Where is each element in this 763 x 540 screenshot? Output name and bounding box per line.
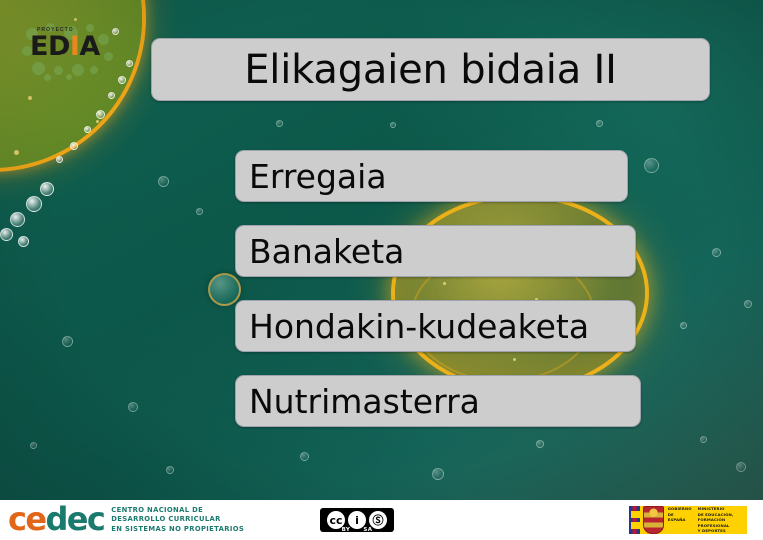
edia-logo-wordmark: EDIA — [30, 33, 100, 60]
government-name-line2: DE ESPAÑA — [668, 512, 692, 523]
ministry-name: MINISTERIO DE EDUCACIÓN, FORMACIÓN PROFE… — [698, 506, 747, 534]
cedec-tagline-line1: CENTRO NACIONAL DE — [111, 506, 244, 516]
list-item[interactable]: Nutrimasterra — [235, 375, 641, 427]
slide-title: Elikagaien bidaia II — [244, 50, 617, 90]
edia-logo-word-ed: ED — [30, 31, 70, 62]
ministry-name-line3: Y DEPORTES — [698, 528, 747, 534]
government-logo-text: GOBIERNO DE ESPAÑA MINISTERIO DE EDUCACI… — [668, 506, 747, 534]
edia-logo-word-a: A — [79, 31, 99, 62]
cedec-tagline: CENTRO NACIONAL DE DESARROLLO CURRICULAR… — [111, 506, 244, 535]
government-of-spain-logo: GOBIERNO DE ESPAÑA MINISTERIO DE EDUCACI… — [629, 506, 747, 534]
spain-flag-icon — [629, 506, 640, 534]
government-name-line1: GOBIERNO — [668, 506, 692, 512]
edia-logo-word-i-accent: I — [70, 31, 80, 62]
cedec-logo: cedec CENTRO NACIONAL DE DESARROLLO CURR… — [8, 503, 244, 535]
cc-badge-labels: BY SA — [320, 527, 394, 533]
list-item-label: Erregaia — [236, 160, 387, 193]
list-item-label: Nutrimasterra — [236, 385, 480, 418]
footer-bar: cedec CENTRO NACIONAL DE DESARROLLO CURR… — [0, 500, 763, 540]
cedec-word-dec: dec — [45, 500, 104, 538]
slide-title-plate: Elikagaien bidaia II — [151, 38, 710, 101]
slide-canvas: PROYECTO EDIA Elikagaien bidaia II Erreg… — [0, 0, 763, 540]
government-name: GOBIERNO DE ESPAÑA — [668, 506, 692, 534]
cc-by-label: BY — [342, 527, 351, 533]
cedec-word-ce: ce — [8, 500, 45, 538]
cedec-wordmark: cedec — [8, 503, 104, 535]
edia-logo: PROYECTO EDIA — [20, 22, 112, 80]
spain-coat-of-arms-icon — [643, 506, 664, 534]
list-item[interactable]: Erregaia — [235, 150, 628, 202]
list-item-label: Hondakin-kudeaketa — [236, 310, 589, 343]
list-item[interactable]: Hondakin-kudeaketa — [235, 300, 636, 352]
cedec-tagline-line2: DESARROLLO CURRICULAR — [111, 515, 244, 525]
cedec-tagline-line3: EN SISTEMAS NO PROPIETARIOS — [111, 525, 244, 535]
list-item[interactable]: Banaketa — [235, 225, 636, 277]
list-item-label: Banaketa — [236, 235, 404, 268]
cc-sa-label: SA — [363, 527, 372, 533]
ministry-name-line2: DE EDUCACIÓN, FORMACIÓN PROFESIONAL — [698, 512, 747, 529]
